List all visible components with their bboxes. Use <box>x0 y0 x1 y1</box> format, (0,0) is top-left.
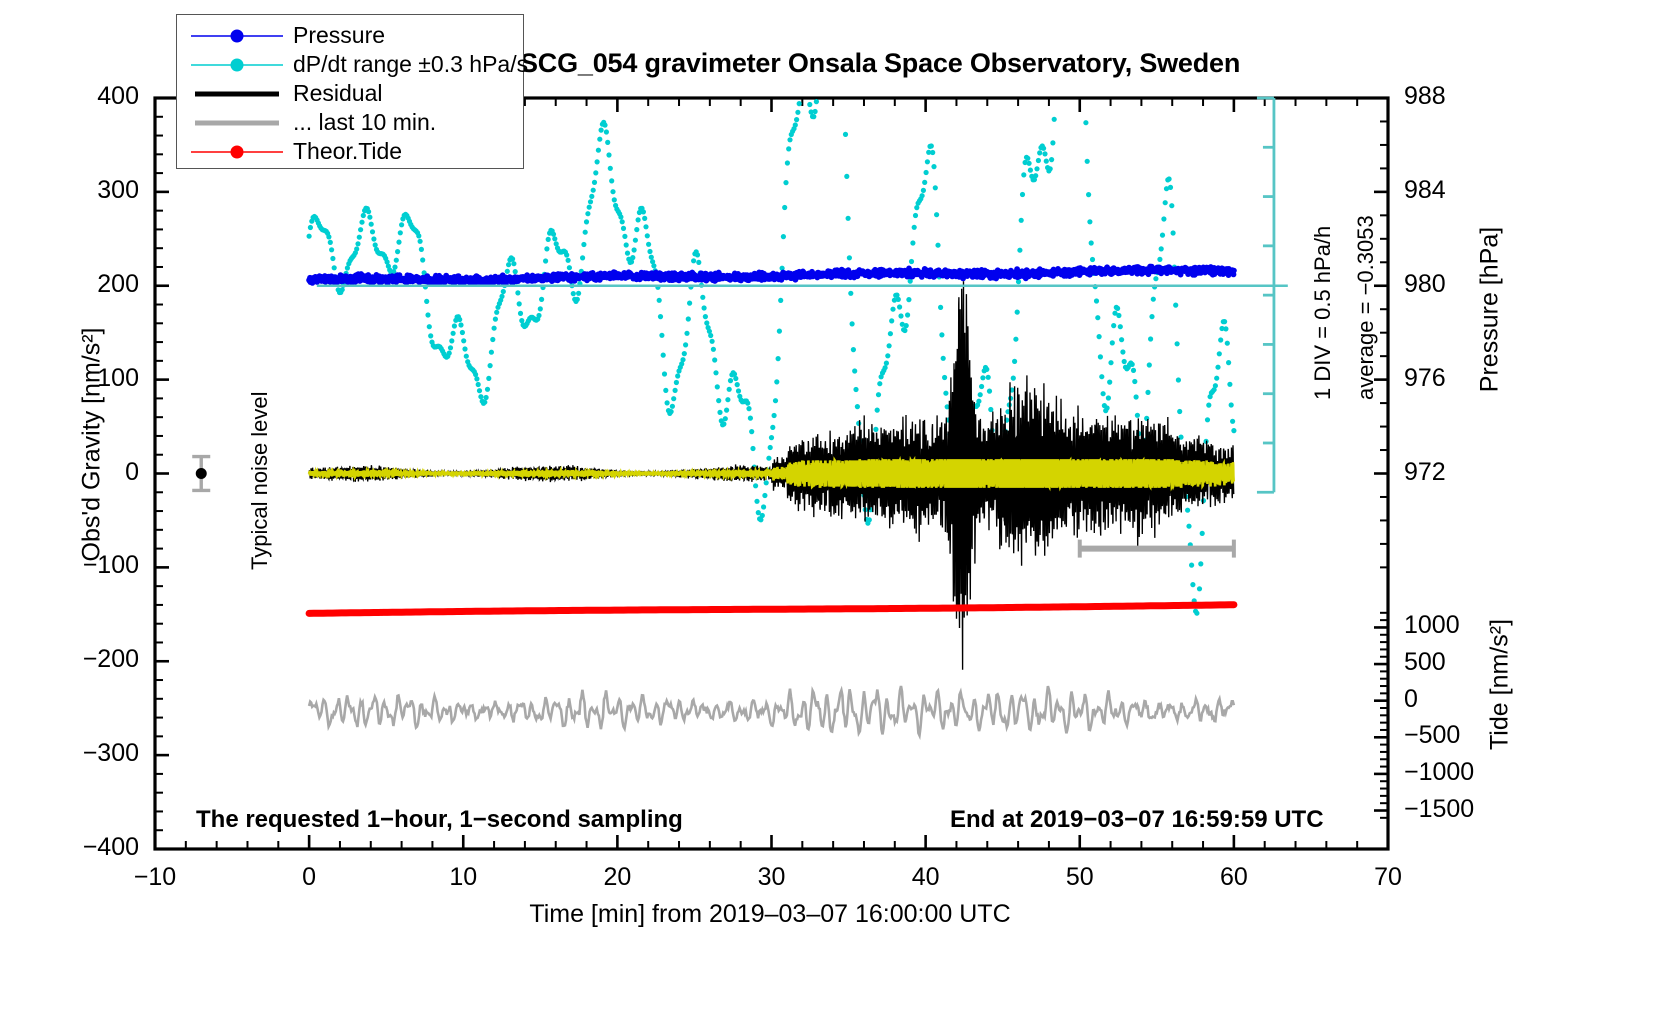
x-tick-label: 50 <box>1046 863 1114 892</box>
legend: Pressure dP/dt range ±0.3 hPa/s Residual… <box>176 14 524 169</box>
x-tick-label: 0 <box>275 863 343 892</box>
x-tick-label: 30 <box>738 863 806 892</box>
y-tick-label-gravity: 300 <box>39 176 139 205</box>
x-axis-label: Time [min] from 2019–03–07 16:00:00 UTC <box>470 900 1070 929</box>
x-tick-label: 40 <box>892 863 960 892</box>
y-axis-label-pressure: Pressure [hPa] <box>1476 150 1505 470</box>
legend-item-residual[interactable]: Residual <box>177 79 523 108</box>
y-tick-label-tide: −500 <box>1404 721 1460 750</box>
last-10-min-span-bar <box>1080 540 1234 558</box>
series-pressure <box>306 264 1237 287</box>
legend-marker-dot-line-icon <box>189 55 285 75</box>
x-tick-label: 20 <box>583 863 651 892</box>
y-tick-label-tide: 1000 <box>1404 611 1460 640</box>
legend-marker-dot-line-icon <box>189 26 285 46</box>
y-tick-label-pressure: 980 <box>1404 270 1446 299</box>
y-tick-label-gravity: 0 <box>39 458 139 487</box>
dpdt-average-label: average = −0.3053 <box>1353 215 1379 400</box>
x-tick-label: 70 <box>1354 863 1422 892</box>
y-tick-label-gravity: 200 <box>39 270 139 299</box>
y-tick-label-gravity: −300 <box>39 739 139 768</box>
y-tick-label-pressure: 976 <box>1404 364 1446 393</box>
dpdt-scale-div-label: 1 DIV = 0.5 hPa/h <box>1310 226 1336 400</box>
legend-item-theor-tide[interactable]: Theor.Tide <box>177 137 523 166</box>
chart-root: SCG_054 gravimeter Onsala Space Observat… <box>0 0 1676 1020</box>
legend-label: Pressure <box>293 22 385 49</box>
y-tick-label-pressure: 988 <box>1404 82 1446 111</box>
legend-label: Residual <box>293 80 383 107</box>
legend-marker-line-icon <box>189 113 285 133</box>
y-tick-label-tide: −1500 <box>1404 795 1474 824</box>
legend-marker-line-icon <box>189 84 285 104</box>
y-tick-label-tide: −1000 <box>1404 758 1474 787</box>
series-theor-tide <box>309 605 1234 614</box>
y-tick-label-gravity: −400 <box>39 833 139 862</box>
y-axis-label-tide: Tide [nm/s²] <box>1486 540 1515 830</box>
legend-item-pressure[interactable]: Pressure <box>177 21 523 50</box>
y-tick-label-tide: 0 <box>1404 685 1418 714</box>
typical-noise-level-errorbar <box>192 457 210 491</box>
y-tick-label-gravity: 100 <box>39 364 139 393</box>
legend-label: dP/dt range ±0.3 hPa/s <box>293 51 528 78</box>
y-tick-label-gravity: −200 <box>39 645 139 674</box>
legend-marker-dot-line-icon <box>189 142 285 162</box>
end-time-note: End at 2019−03−07 16:59:59 UTC <box>950 806 1324 834</box>
y-tick-label-pressure: 972 <box>1404 458 1446 487</box>
x-tick-label: 10 <box>429 863 497 892</box>
y-tick-label-tide: 500 <box>1404 648 1446 677</box>
x-tick-label: −10 <box>121 863 189 892</box>
series-dpdt <box>307 99 1237 616</box>
series-last-10-min <box>309 686 1234 735</box>
legend-label: ... last 10 min. <box>293 109 436 136</box>
y-tick-label-gravity: 400 <box>39 82 139 111</box>
x-tick-label: 60 <box>1200 863 1268 892</box>
legend-item-dpdt[interactable]: dP/dt range ±0.3 hPa/s <box>177 50 523 79</box>
legend-label: Theor.Tide <box>293 138 402 165</box>
legend-item-last10[interactable]: ... last 10 min. <box>177 108 523 137</box>
requested-sampling-note: The requested 1−hour, 1−second sampling <box>196 806 683 834</box>
typical-noise-level-label: Typical noise level <box>247 391 273 570</box>
y-tick-label-gravity: −100 <box>39 551 139 580</box>
page-title: SCG_054 gravimeter Onsala Space Observat… <box>520 48 1380 79</box>
y-tick-label-pressure: 984 <box>1404 176 1446 205</box>
